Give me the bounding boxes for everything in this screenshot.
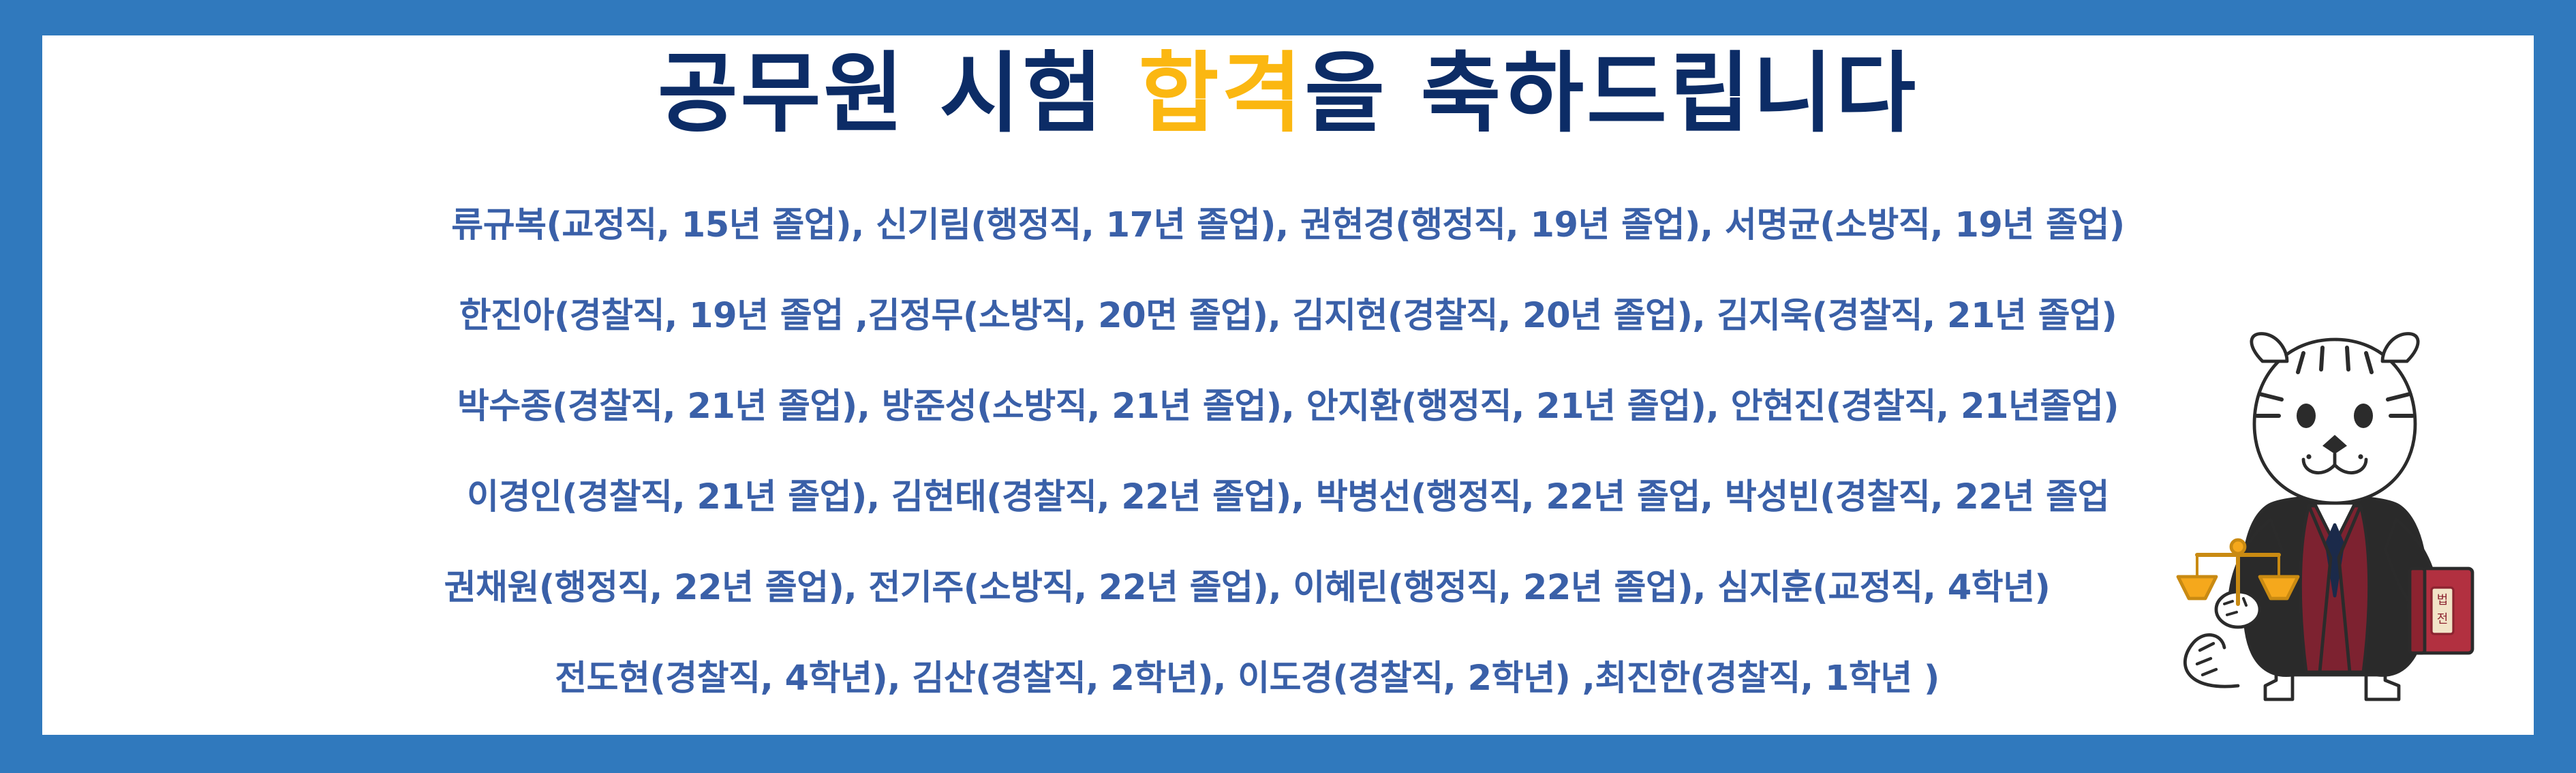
congratulations-banner: 공무원 시험 합격을 축하드립니다 류규복(교정직, 15년 졸업), 신기림(… — [0, 0, 2576, 773]
name-line: 권채원(행정직, 22년 졸업), 전기주(소방직, 22년 졸업), 이혜린(… — [74, 543, 2502, 633]
name-line: 전도현(경찰직, 4학년), 김산(경찰직, 2학년), 이도경(경찰직, 2학… — [74, 633, 2502, 724]
name-line: 류규복(교정직, 15년 졸업), 신기림(행정직, 17년 졸업), 권현경(… — [74, 180, 2502, 271]
name-line: 이경인(경찰직, 21년 졸업), 김현태(경찰직, 22년 졸업), 박병선(… — [74, 452, 2502, 543]
banner-inner-panel: 공무원 시험 합격을 축하드립니다 류규복(교정직, 15년 졸업), 신기림(… — [42, 35, 2534, 735]
title-highlight-pass: 합격 — [1139, 43, 1305, 145]
page-title: 공무원 시험 합격을 축하드립니다 — [42, 42, 2534, 145]
name-line: 박수종(경찰직, 21년 졸업), 방준성(소방직, 21년 졸업), 안지환(… — [74, 361, 2502, 452]
graduate-name-list: 류규복(교정직, 15년 졸업), 신기림(행정직, 17년 졸업), 권현경(… — [42, 180, 2534, 724]
title-part-two: 을 축하드립니다 — [1304, 43, 1918, 145]
title-part-one: 공무원 시험 — [658, 43, 1139, 145]
name-line: 한진아(경찰직, 19년 졸업 ,김정무(소방직, 20면 졸업), 김지현(경… — [74, 271, 2502, 361]
